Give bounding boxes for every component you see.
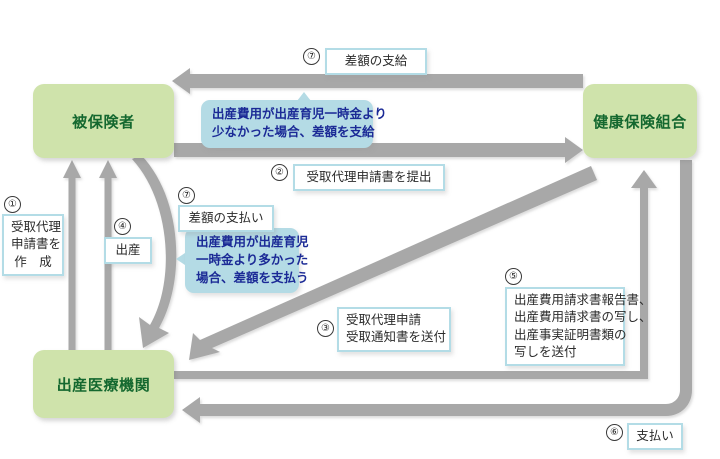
step-number-4: ④ [114,218,131,235]
node-society-label: 健康保険組合 [593,111,687,132]
step-number-7-payment: ⑦ [178,187,195,204]
step-label-4: 出産 [104,237,152,264]
node-hospital-label: 出産医療機関 [57,374,151,395]
step-label-3: 受取代理申請 受取通知書を送付 [337,307,451,352]
node-maternity-hospital: 出産医療機関 [33,350,174,418]
step-number-6: ⑥ [606,424,623,441]
flow-diagram: 被保険者 健康保険組合 出産医療機関 出産費用が出産育児一時金より 少なかった場… [0,0,720,459]
callout-excess: 出産費用が出産育児 一時金より多かった 場合、差額を支払う [185,228,299,293]
node-insured-label: 被保険者 [72,111,134,132]
callout-shortfall: 出産費用が出産育児一時金より 少なかった場合、差額を支給 [201,100,373,148]
step-number-5: ⑤ [505,268,522,285]
step-number-7-supply: ⑦ [303,48,320,65]
step-label-7-supply: 差額の支給 [325,48,427,75]
node-health-insurance-society: 健康保険組合 [583,84,697,158]
step-number-2: ② [271,164,288,181]
step-label-2: 受取代理申請書を提出 [293,164,445,191]
step-label-5: 出産費用請求書報告書、 出産費用請求書の写し、 出産事実証明書類の 写しを送付 [505,287,625,366]
step-label-7-payment: 差額の支払い [178,205,274,232]
step-label-6: 支払い [627,423,683,450]
node-insured: 被保険者 [33,84,174,158]
step-number-3: ③ [317,320,334,337]
callout-mid-notch-icon [176,253,185,265]
step-number-1: ① [4,196,21,213]
step-label-1: 受取代理 申請書を 作 成 [2,214,64,276]
